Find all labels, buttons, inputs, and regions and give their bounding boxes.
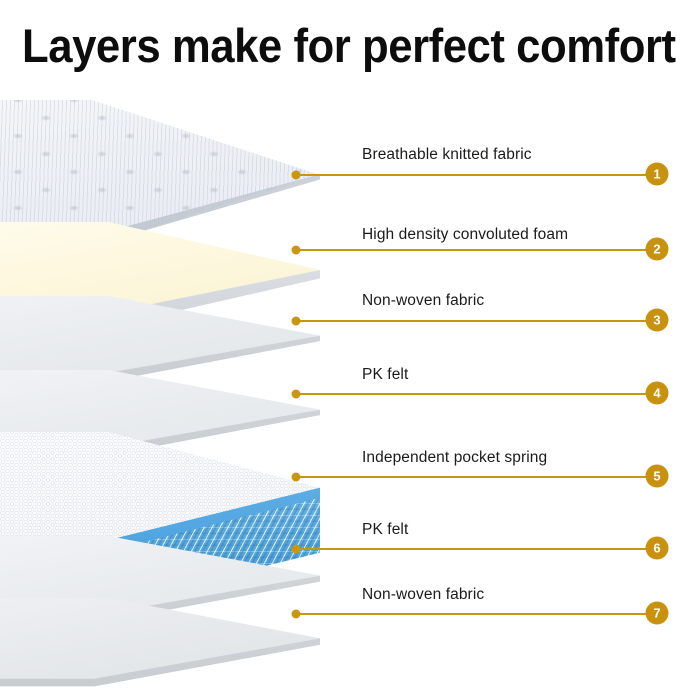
callout-4-label: PK felt xyxy=(362,366,408,384)
callout-6-badge[interactable]: 6 xyxy=(646,537,669,560)
callout-7-label: Non-woven fabric xyxy=(362,586,484,604)
callout-3-leader-line xyxy=(296,320,648,322)
callout-1-label: Breathable knitted fabric xyxy=(362,146,532,164)
callout-5-label: Independent pocket spring xyxy=(362,449,547,467)
callout-3-label: Non-woven fabric xyxy=(362,292,484,310)
callout-7-badge[interactable]: 7 xyxy=(646,602,669,625)
callout-3-badge[interactable]: 3 xyxy=(646,309,669,332)
callout-1-leader-line xyxy=(296,174,648,176)
callout-1-badge[interactable]: 1 xyxy=(646,163,669,186)
callout-6-leader-line xyxy=(296,548,648,550)
callout-2-label: High density convoluted foam xyxy=(362,226,568,244)
product-infographic: Layers make for perfect comfort xyxy=(0,0,700,700)
callout-4-badge[interactable]: 4 xyxy=(646,382,669,405)
callout-2-badge[interactable]: 2 xyxy=(646,238,669,261)
callout-2-leader-line xyxy=(296,249,648,251)
callout-4-leader-line xyxy=(296,393,648,395)
mattress-layer-7-non-woven-fabric xyxy=(0,598,320,700)
callout-5-badge[interactable]: 5 xyxy=(646,465,669,488)
callout-7-leader-line xyxy=(296,613,648,615)
callout-6-label: PK felt xyxy=(362,521,408,539)
callout-5-leader-line xyxy=(296,476,648,478)
exploded-mattress-illustration xyxy=(0,0,700,700)
